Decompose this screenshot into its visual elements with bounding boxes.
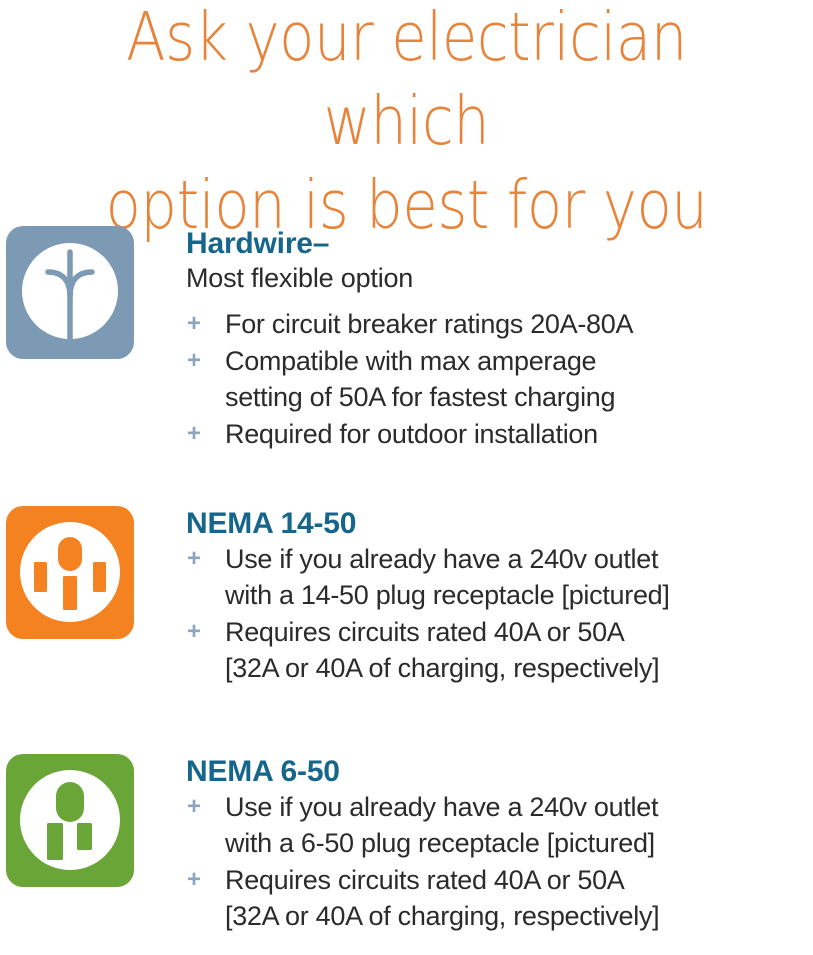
icon-cell (0, 754, 186, 887)
icon-cell (0, 506, 186, 639)
list-item: + Use if you already have a 240v outlet … (186, 790, 813, 862)
infographic-page: Ask your electrician which option is bes… (0, 0, 813, 955)
list-item-text: Requires circuits rated 40A or 50A [32A … (225, 863, 813, 935)
text-cell: Hardwire– Most flexible option + For cir… (186, 226, 813, 454)
plus-bullet-icon: + (186, 307, 225, 342)
plus-bullet-icon: + (186, 863, 225, 898)
option-title: Hardwire– (186, 228, 813, 260)
page-title: Ask your electrician which option is bes… (57, 0, 756, 247)
plus-bullet-icon: + (186, 542, 225, 577)
option-row-hardwire: Hardwire– Most flexible option + For cir… (0, 226, 813, 454)
list-item: + For circuit breaker ratings 20A-80A (186, 307, 813, 343)
list-item: + Use if you already have a 240v outlet … (186, 542, 813, 614)
option-subtitle: Most flexible option (186, 262, 813, 294)
list-item: + Requires circuits rated 40A or 50A [32… (186, 615, 813, 687)
text-cell: NEMA 6-50 + Use if you already have a 24… (186, 754, 813, 935)
plus-bullet-icon: + (186, 790, 225, 825)
list-item-text: For circuit breaker ratings 20A-80A (225, 307, 813, 343)
plus-bullet-icon: + (186, 344, 225, 379)
bullet-list: + For circuit breaker ratings 20A-80A + … (186, 307, 813, 453)
list-item-text: Use if you already have a 240v outlet wi… (225, 542, 813, 614)
bullet-list: + Use if you already have a 240v outlet … (186, 542, 813, 687)
hardwire-icon (6, 226, 134, 359)
option-title: NEMA 14-50 (186, 508, 813, 540)
option-title: NEMA 6-50 (186, 756, 813, 788)
icon-cell (0, 226, 186, 359)
list-item: + Required for outdoor installation (186, 417, 813, 453)
option-row-nema-14-50: NEMA 14-50 + Use if you already have a 2… (0, 506, 813, 687)
option-row-nema-6-50: NEMA 6-50 + Use if you already have a 24… (0, 754, 813, 935)
plus-bullet-icon: + (186, 417, 225, 452)
nema-14-50-outlet-icon (6, 506, 134, 639)
nema-6-50-outlet-icon (6, 754, 134, 887)
text-cell: NEMA 14-50 + Use if you already have a 2… (186, 506, 813, 687)
list-item: + Compatible with max amperage setting o… (186, 344, 813, 416)
bullet-list: + Use if you already have a 240v outlet … (186, 790, 813, 935)
list-item-text: Use if you already have a 240v outlet wi… (225, 790, 813, 862)
plus-bullet-icon: + (186, 615, 225, 650)
list-item-text: Requires circuits rated 40A or 50A [32A … (225, 615, 813, 687)
list-item-text: Compatible with max amperage setting of … (225, 344, 813, 416)
list-item-text: Required for outdoor installation (225, 417, 813, 453)
list-item: + Requires circuits rated 40A or 50A [32… (186, 863, 813, 935)
